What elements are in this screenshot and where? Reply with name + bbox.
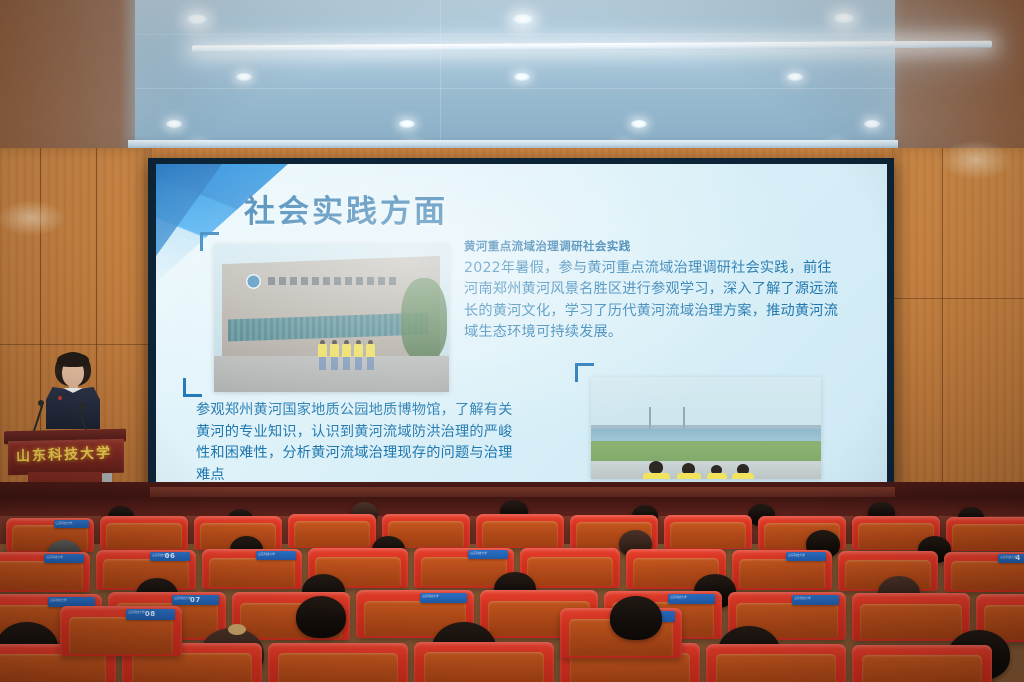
seat-plaque: 山东科技大学 [668, 594, 715, 605]
slide-right-body: 2022年暑假，参与黄河重点流域治理调研社会实践，前往河南郑州黄河风景名胜区进行… [464, 258, 839, 343]
seat-plaque-caption: 山东科技大学 [56, 521, 73, 525]
auditorium-scene: 社会实践方面 黄河重点流域治理调研社会实践 [0, 0, 1024, 682]
seat-plaque: 山东科技大学 08 [126, 609, 175, 620]
seat-plaque: 山东科技大学 [256, 551, 296, 560]
seat[interactable]: 山东科技大学 08 [60, 606, 182, 656]
stage-rail [150, 487, 895, 497]
photo-museum [214, 244, 449, 392]
seat[interactable]: 山东科技大学 [0, 552, 90, 592]
seat-number: 08 [145, 611, 156, 618]
seat-plaque: 山东科技大学 [420, 593, 467, 604]
seat[interactable]: 山东科技大学 [732, 550, 832, 590]
hair-bun [228, 624, 246, 635]
photo-riverside [591, 377, 821, 479]
seat-plaque-caption: 山东科技大学 [128, 610, 145, 614]
seat-plaque: 山东科技大学 4 [998, 554, 1024, 563]
ceiling-downlight [631, 120, 647, 128]
ceiling-downlight [399, 120, 415, 128]
ceiling-downlight [166, 120, 182, 128]
seat-plaque: 山东科技大学 [786, 552, 826, 561]
seat[interactable] [268, 643, 408, 682]
museum-logo-icon [246, 274, 261, 289]
seat-plaque-caption: 山东科技大学 [794, 596, 811, 600]
seat-plaque: 山东科技大学 07 [172, 595, 219, 606]
seat[interactable] [664, 515, 752, 549]
ceiling-downlight [236, 73, 252, 81]
ceiling [0, 0, 1024, 158]
seat-plaque: 山东科技大学 [792, 595, 839, 606]
seat[interactable]: 山东科技大学 4 [944, 552, 1024, 592]
audience-head [296, 596, 346, 638]
seat-plaque: 山东科技大学 [44, 554, 84, 563]
audience-seating: 山东科技大学 山东科技大学 山东科技大学 06 山东科技大 [0, 500, 1024, 682]
presentation-slide: 社会实践方面 黄河重点流域治理调研社会实践 [156, 164, 887, 485]
slide-left-text-block: 参观郑州黄河国家地质公园地质博物馆，了解有关黄河的专业知识，认识到黄河流域防洪治… [196, 400, 526, 485]
seat[interactable] [852, 593, 970, 641]
seat-plaque-caption: 山东科技大学 [174, 596, 191, 600]
seat-plaque-caption: 山东科技大学 [670, 595, 687, 599]
seat-plaque-caption: 山东科技大学 [470, 551, 487, 555]
tree [401, 278, 447, 360]
seat-plaque-caption: 山东科技大学 [1000, 555, 1017, 559]
seat-plaque: 山东科技大学 [468, 550, 508, 559]
right-wall-panel [892, 148, 1024, 518]
ceiling-downlight [186, 14, 208, 25]
microphone-head-icon [80, 402, 86, 408]
seat-plaque-caption: 山东科技大学 [152, 553, 169, 557]
ceiling-downlight [864, 120, 880, 128]
seat[interactable]: 山东科技大学 [202, 549, 302, 589]
microphone-head-icon [38, 400, 44, 406]
projection-screen: 社会实践方面 黄河重点流域治理调研社会实践 [148, 158, 894, 490]
ceiling-downlight [512, 14, 534, 25]
slide-right-heading: 黄河重点流域治理调研社会实践 [464, 238, 839, 254]
slide-title: 社会实践方面 [244, 186, 448, 231]
ceiling-downlight [514, 73, 530, 81]
slide-right-text-block: 黄河重点流域治理调研社会实践 2022年暑假，参与黄河重点流域治理调研社会实践，… [464, 238, 839, 343]
seat[interactable] [520, 548, 620, 588]
podium-calligraphy: 山东科技大学 [16, 442, 120, 468]
seat[interactable] [414, 642, 554, 682]
seat[interactable] [706, 644, 846, 682]
seat[interactable] [852, 645, 992, 682]
seat[interactable] [476, 514, 564, 548]
bracket-bottom-left-icon [183, 378, 202, 397]
ceiling-downlight [787, 73, 803, 81]
seat[interactable] [100, 516, 188, 550]
museum-signage [268, 277, 398, 285]
seat[interactable] [946, 517, 1024, 551]
seat-plaque-caption: 山东科技大学 [46, 555, 63, 559]
seat-plaque: 山东科技大学 06 [150, 552, 190, 561]
seat[interactable] [288, 514, 376, 548]
seat-plaque: 山东科技大学 [54, 520, 89, 527]
seat-plaque-caption: 山东科技大学 [788, 553, 805, 557]
seat-plaque-caption: 山东科技大学 [422, 594, 439, 598]
ceiling-downlight [833, 13, 855, 24]
seat-number: 07 [190, 597, 201, 604]
audience-head [610, 596, 662, 640]
seat-plaque-caption: 山东科技大学 [258, 552, 275, 556]
seat-plaque-caption: 山东科技大学 [50, 598, 67, 602]
